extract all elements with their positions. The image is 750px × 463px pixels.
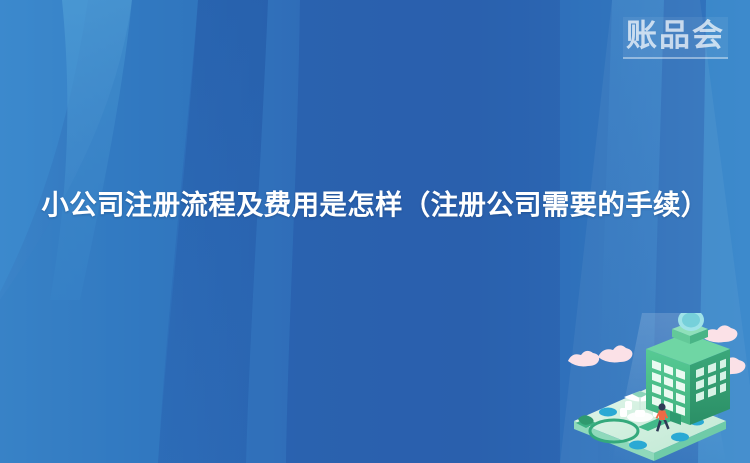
ground-dot [671, 433, 689, 442]
ground-dot [629, 441, 647, 450]
brand-wordmark: 账品会 [626, 18, 725, 54]
brand-logo: 账品会 [623, 17, 728, 59]
ground-dot [599, 408, 617, 417]
cloud-icon [598, 345, 632, 362]
isometric-office-illustration [550, 313, 750, 463]
headline-container: 小公司注册流程及费用是怎样（注册公司需要的手续） [40, 186, 710, 224]
ribbon-center-dark-2 [286, 0, 560, 463]
article-cover: 账品会 小公司注册流程及费用是怎样（注册公司需要的手续） [0, 0, 750, 463]
page-title: 小公司注册流程及费用是怎样（注册公司需要的手续） [40, 186, 710, 224]
cloud-icon [568, 351, 599, 367]
